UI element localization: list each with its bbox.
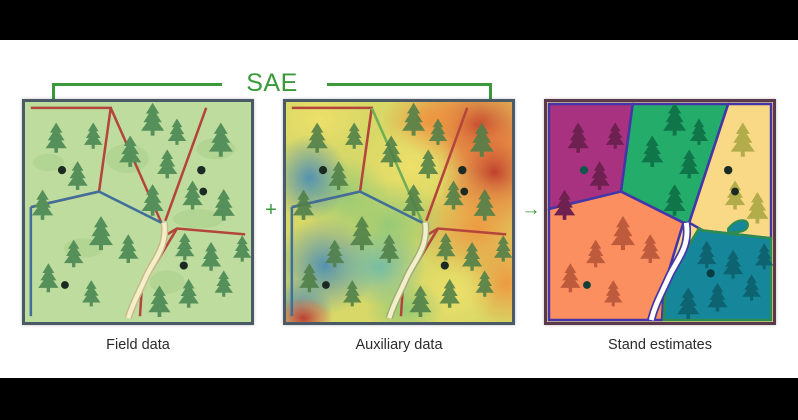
caption-stand-estimates: Stand estimates bbox=[544, 337, 776, 353]
figure-canvas: SAE bbox=[0, 40, 798, 378]
sae-label: SAE bbox=[52, 65, 492, 101]
caption-auxiliary-data: Auxiliary data bbox=[283, 337, 515, 353]
panel-field-data bbox=[22, 99, 254, 325]
stand-estimates-map bbox=[547, 102, 773, 322]
caption-field-data: Field data bbox=[22, 337, 254, 353]
field-data-map bbox=[25, 102, 251, 322]
panel-stand-estimates bbox=[544, 99, 776, 325]
plus-operator: + bbox=[256, 200, 286, 220]
sae-bracket: SAE bbox=[52, 65, 492, 103]
panel-auxiliary-data bbox=[283, 99, 515, 325]
arrow-operator: → bbox=[516, 200, 546, 220]
auxiliary-data-map bbox=[286, 102, 512, 322]
